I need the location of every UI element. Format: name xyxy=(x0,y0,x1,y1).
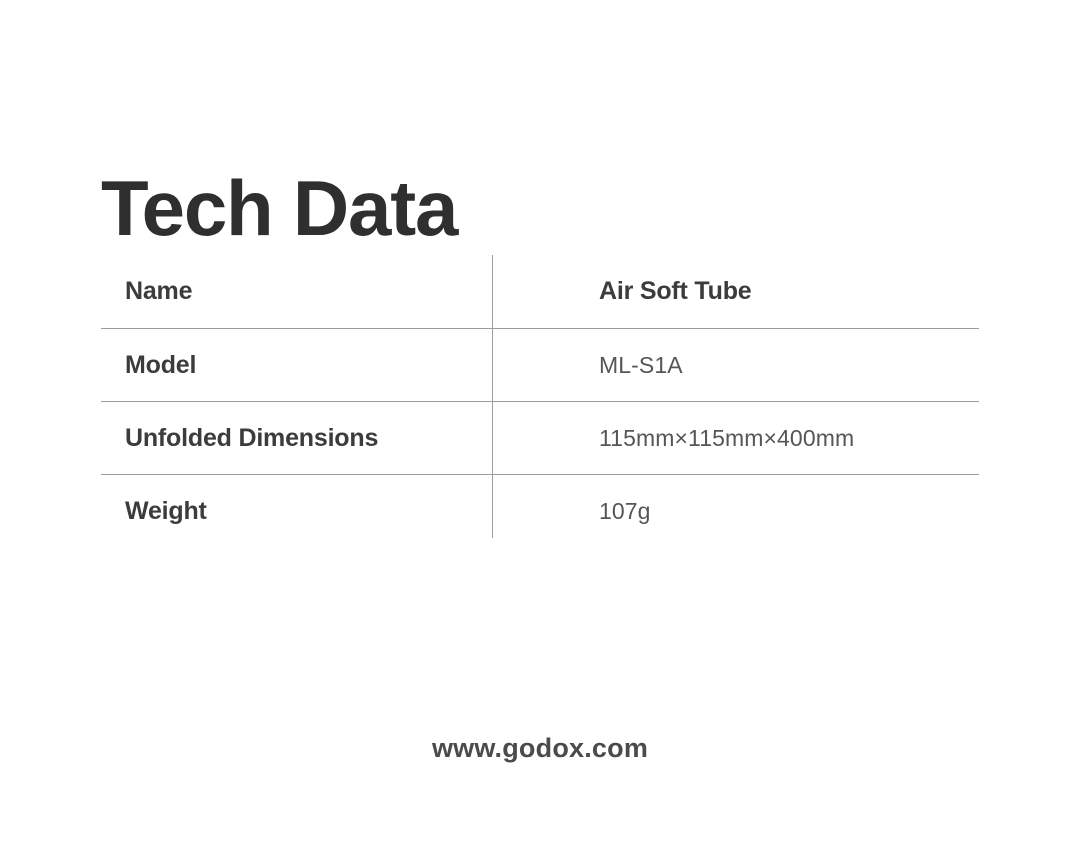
table-row: Model ML-S1A xyxy=(101,328,979,401)
spec-label: Model xyxy=(101,351,492,380)
spec-value: Air Soft Tube xyxy=(492,277,979,306)
page-title: Tech Data xyxy=(101,160,457,256)
spec-value: 107g xyxy=(492,498,979,525)
spec-value: ML-S1A xyxy=(492,352,979,379)
spec-label: Weight xyxy=(101,497,492,526)
tech-data-table: Name Air Soft Tube Model ML-S1A Unfolded… xyxy=(101,255,979,547)
column-divider xyxy=(492,255,493,538)
table-row: Unfolded Dimensions 115mm×115mm×400mm xyxy=(101,401,979,474)
spec-value: 115mm×115mm×400mm xyxy=(492,425,979,452)
spec-label: Unfolded Dimensions xyxy=(101,424,492,453)
table-row: Weight 107g xyxy=(101,474,979,547)
tech-data-page: Tech Data Name Air Soft Tube Model ML-S1… xyxy=(0,0,1080,866)
table-row: Name Air Soft Tube xyxy=(101,255,979,328)
spec-label: Name xyxy=(101,277,492,306)
footer-website: www.godox.com xyxy=(0,733,1080,764)
